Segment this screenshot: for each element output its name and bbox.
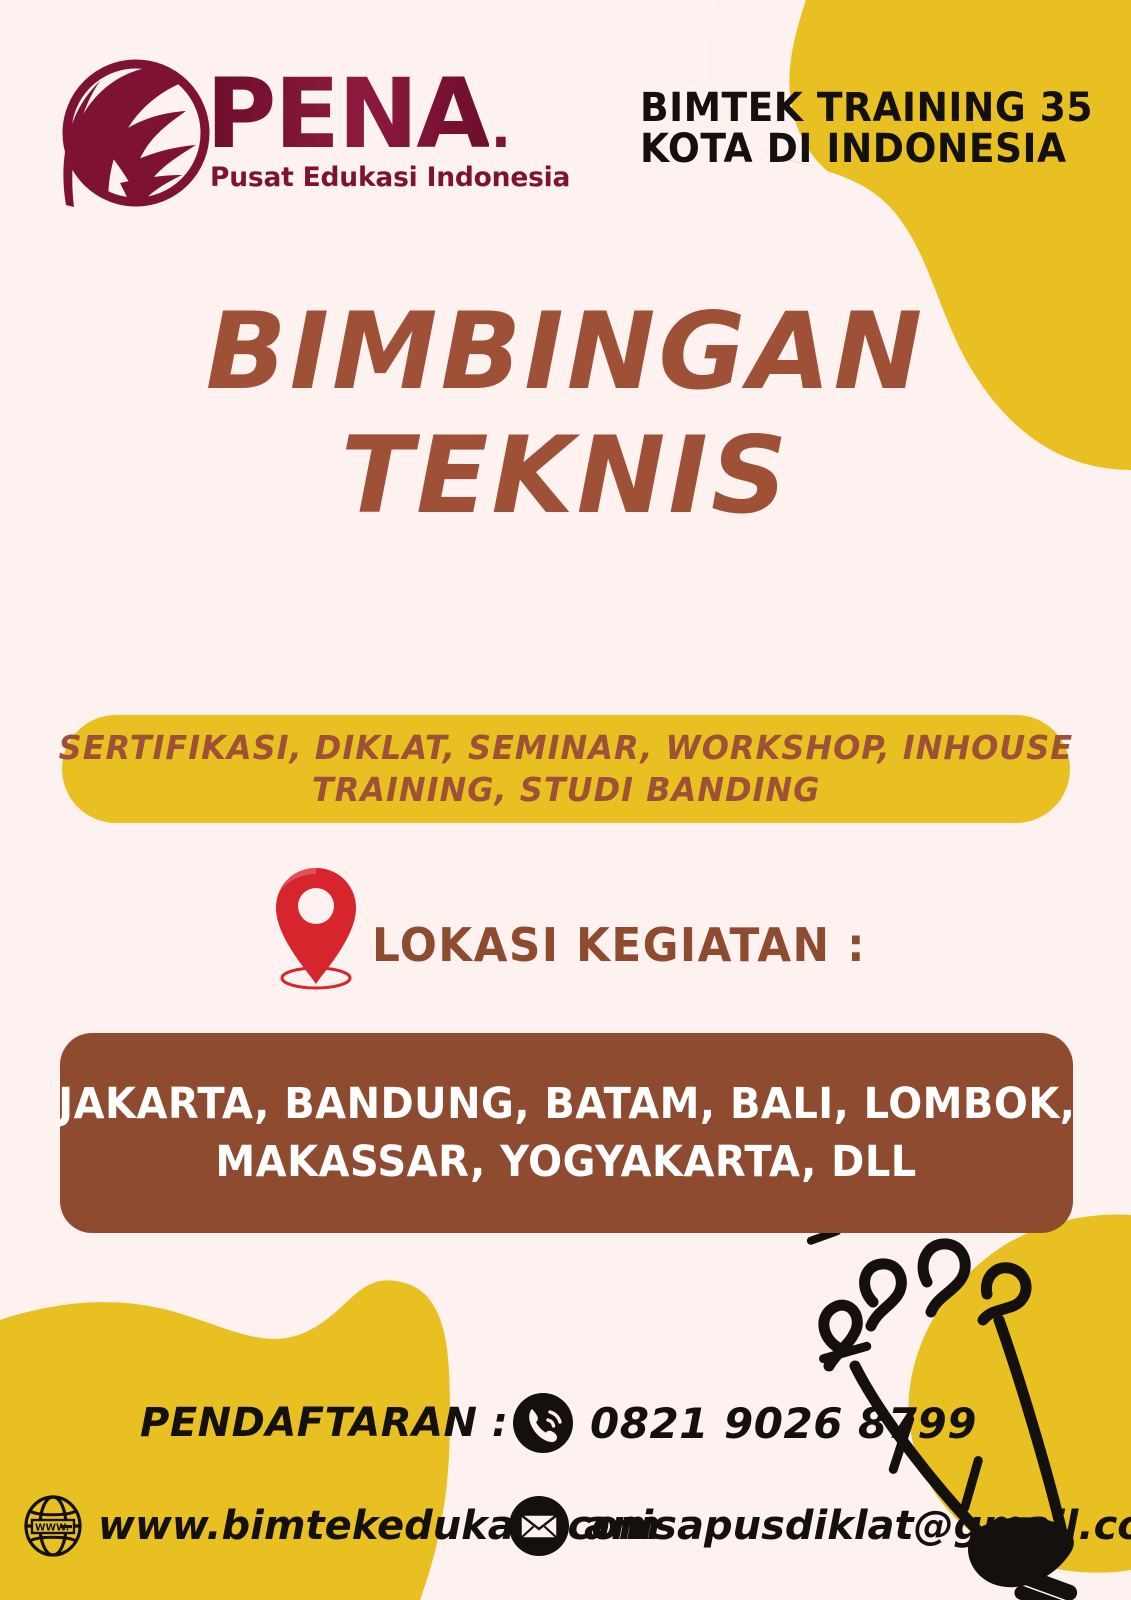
cities-line-2: MAKASSAR, YOGYAKARTA, DLL — [216, 1133, 917, 1191]
page-title-line-2: TEKNIS — [0, 424, 1131, 528]
logo-wordmark-text: PENA — [206, 69, 489, 160]
location-heading: LOKASI KEGIATAN : — [266, 862, 892, 990]
cities-line-1: JAKARTA, BANDUNG, BATAM, BALI, LOMBOK, — [58, 1075, 1075, 1133]
envelope-icon — [508, 1495, 570, 1557]
services-line-1: SERTIFIKASI, DIKLAT, SEMINAR, WORKSHOP, … — [59, 727, 1073, 769]
header-kicker-line-2: KOTA DI INDONESIA — [640, 129, 1044, 170]
phone-number: 0821 9026 8799 — [590, 1399, 977, 1448]
email-address: anisapusdiklat@gmail.com — [584, 1503, 1131, 1549]
feather-circle-logo-icon — [60, 55, 212, 207]
phone-icon — [512, 1392, 574, 1454]
brand-logo: PENA . Pusat Edukasi Indonesia — [60, 55, 570, 207]
location-label: LOKASI KEGIATAN : — [372, 918, 866, 990]
page-title: BIMBINGAN TEKNIS — [0, 300, 1131, 528]
map-pin-icon — [266, 862, 366, 990]
poster-root: PENA . Pusat Edukasi Indonesia BIMTEK TR… — [0, 0, 1131, 1600]
registration-label: PENDAFTARAN : — [140, 1400, 508, 1446]
email-contact[interactable]: anisapusdiklat@gmail.com — [508, 1495, 1131, 1557]
logo-tagline: Pusat Edukasi Indonesia — [210, 162, 570, 193]
cities-box: JAKARTA, BANDUNG, BATAM, BALI, LOMBOK, M… — [60, 1033, 1073, 1233]
logo-wordmark-dot: . — [491, 103, 510, 154]
globe-www-icon: WWW. — [22, 1495, 84, 1557]
poster-header: PENA . Pusat Edukasi Indonesia BIMTEK TR… — [0, 0, 1131, 230]
services-line-2: TRAINING, STUDI BANDING — [312, 769, 821, 811]
page-title-line-1: BIMBINGAN — [0, 300, 1131, 404]
header-kicker: BIMTEK TRAINING 35 KOTA DI INDONESIA — [640, 88, 1044, 170]
services-banner: SERTIFIKASI, DIKLAT, SEMINAR, WORKSHOP, … — [62, 715, 1070, 823]
logo-wordmark: PENA . — [206, 69, 570, 160]
logo-wordmark-block: PENA . Pusat Edukasi Indonesia — [206, 69, 570, 193]
phone-contact[interactable]: 0821 9026 8799 — [512, 1392, 977, 1454]
header-kicker-line-1: BIMTEK TRAINING 35 — [640, 88, 1044, 129]
